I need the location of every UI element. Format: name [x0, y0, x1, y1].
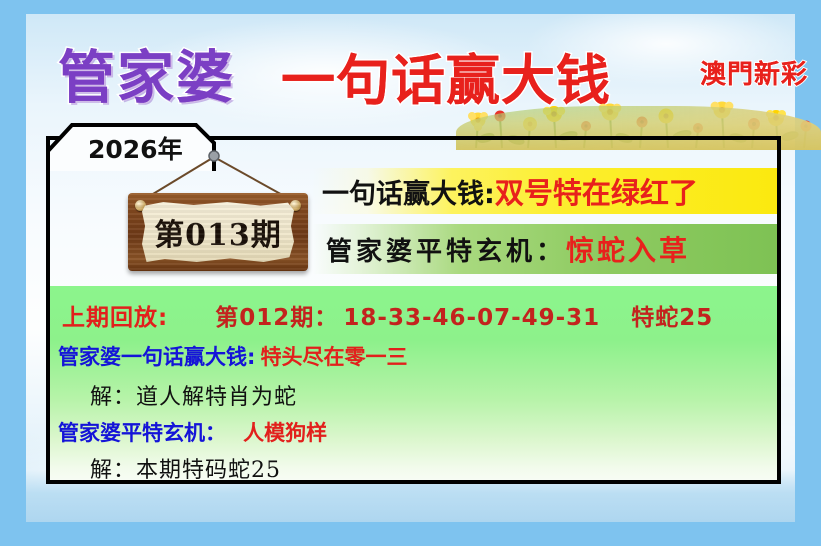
issue-number: 第013期: [154, 210, 282, 254]
replay-numbers: 18-33-46-07-49-31: [343, 305, 600, 331]
line-4-answer: 解：本期特码蛇25: [90, 452, 281, 484]
poster-header: 管家婆 管家婆 一句话赢大钱 一句话赢大钱 澳門新彩 澳門新彩: [26, 14, 795, 134]
line-2-answer: 解：道人解特肖为蛇: [90, 379, 297, 411]
line3-label: 管家婆平特玄机：: [58, 421, 226, 445]
screw-icon-right: [290, 200, 301, 211]
hanging-sign: 第013期: [110, 147, 325, 275]
sign-paper: 第013期: [142, 202, 294, 262]
replay-label: 上期回放:: [62, 305, 168, 331]
banner1-label: 一句话赢大钱:: [322, 172, 495, 211]
line-3: 管家婆平特玄机： 人模狗样: [58, 417, 327, 447]
line1-value: 特头尽在零一三: [261, 345, 408, 369]
brand-label: 澳門新彩: [700, 54, 808, 91]
banner1-value: 双号特在绿红了: [495, 170, 698, 212]
banner2-label: 管家婆平特玄机：: [326, 231, 566, 268]
banner-ping-te-xuan-ji: 管家婆平特玄机： 惊蛇入草: [312, 224, 777, 274]
line-1: 管家婆一句话赢大钱: 特头尽在零一三: [58, 341, 408, 371]
replay-issue: 第012期：: [215, 305, 338, 331]
sign-board: 第013期: [128, 193, 308, 271]
banner-yi-ju-hua-ying-da-qian: 一句话赢大钱: 双号特在绿红了: [312, 168, 777, 214]
line3-value: 人模狗样: [243, 421, 327, 445]
replay-row: 上期回放: 第012期： 18-33-46-07-49-31 特蛇25: [62, 298, 713, 332]
banner2-value: 惊蛇入草: [566, 229, 690, 269]
replay-special: 特蛇25: [631, 305, 713, 331]
page-title: 管家婆: [58, 32, 235, 114]
results-panel: 上期回放: 第012期： 18-33-46-07-49-31 特蛇25 管家婆一…: [50, 286, 777, 480]
line1-label: 管家婆一句话赢大钱:: [58, 345, 255, 369]
poster-root: 管家婆 管家婆 一句话赢大钱 一句话赢大钱 澳門新彩 澳門新彩: [0, 0, 821, 546]
screw-icon-left: [135, 200, 146, 211]
